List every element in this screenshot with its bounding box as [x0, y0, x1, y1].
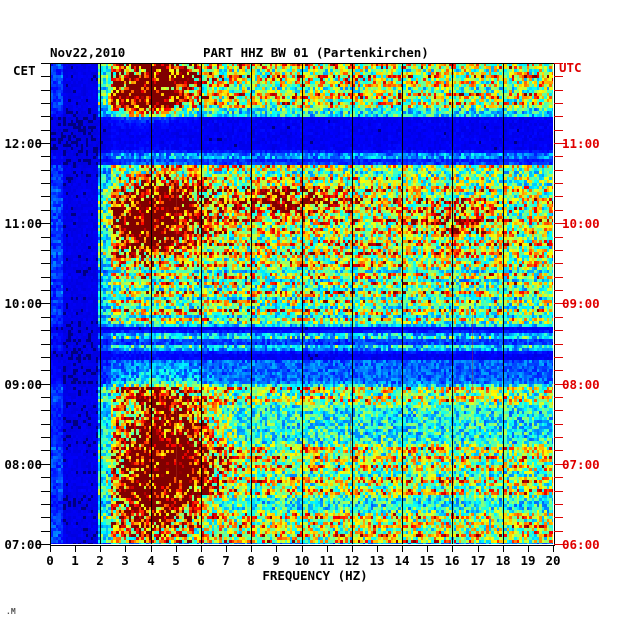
- left-tick-minor: [41, 450, 50, 451]
- right-tick-minor: [554, 76, 563, 77]
- left-tick-minor: [41, 410, 50, 411]
- left-tick-minor: [41, 103, 50, 104]
- x-tick: [125, 545, 126, 552]
- right-tick-minor: [554, 437, 563, 438]
- right-tick-label: 07:00: [562, 457, 600, 472]
- right-tick-minor: [554, 370, 563, 371]
- x-tick: [50, 545, 51, 552]
- x-axis-title: FREQUENCY (HZ): [0, 568, 630, 583]
- left-tick-minor: [41, 370, 50, 371]
- right-tick-minor: [554, 531, 563, 532]
- right-tick-minor: [554, 410, 563, 411]
- right-tick-label: 11:00: [562, 136, 600, 151]
- right-tick-label: 09:00: [562, 296, 600, 311]
- x-tick: [553, 545, 554, 552]
- right-tick-minor: [554, 344, 563, 345]
- right-tick-label: 06:00: [562, 537, 600, 552]
- left-tick-label: 12:00: [0, 136, 42, 151]
- left-tick-minor: [41, 317, 50, 318]
- left-tick-minor: [41, 424, 50, 425]
- right-tick-minor: [554, 290, 563, 291]
- x-tick: [251, 545, 252, 552]
- left-tick-minor: [41, 90, 50, 91]
- right-tick-minor: [554, 317, 563, 318]
- left-tick-minor: [41, 183, 50, 184]
- left-tick-minor: [41, 196, 50, 197]
- left-tick-minor: [41, 210, 50, 211]
- x-tick: [302, 545, 303, 552]
- x-tick: [100, 545, 101, 552]
- right-tick-minor: [554, 357, 563, 358]
- left-tick-minor: [41, 277, 50, 278]
- left-tick-minor: [41, 344, 50, 345]
- right-tick-minor: [554, 116, 563, 117]
- left-tick-minor: [41, 76, 50, 77]
- left-tick-minor: [41, 504, 50, 505]
- date-title: Nov22,2010: [50, 45, 125, 60]
- corner-mark: .M: [6, 607, 16, 616]
- right-tick-minor: [554, 183, 563, 184]
- left-tick-minor: [41, 330, 50, 331]
- right-tick-label: 08:00: [562, 377, 600, 392]
- right-tick-minor: [554, 90, 563, 91]
- left-tick-minor: [41, 130, 50, 131]
- left-tick-label: 11:00: [0, 216, 42, 231]
- x-tick: [176, 545, 177, 552]
- x-tick: [226, 545, 227, 552]
- left-tick-minor: [41, 477, 50, 478]
- right-tick-minor: [554, 277, 563, 278]
- x-tick: [478, 545, 479, 552]
- x-tick: [151, 545, 152, 552]
- right-tick-label: 10:00: [562, 216, 600, 231]
- right-tick-minor: [554, 477, 563, 478]
- right-tick-minor: [554, 130, 563, 131]
- right-tick-minor: [554, 330, 563, 331]
- right-tick-minor: [554, 156, 563, 157]
- left-tick-label: 08:00: [0, 457, 42, 472]
- x-tick: [201, 545, 202, 552]
- right-tick-minor: [554, 517, 563, 518]
- left-tick-minor: [41, 397, 50, 398]
- x-tick: [402, 545, 403, 552]
- left-tick-label: 09:00: [0, 377, 42, 392]
- right-tick-minor: [554, 424, 563, 425]
- right-tick-minor: [554, 170, 563, 171]
- right-tick-minor: [554, 210, 563, 211]
- x-tick-label: 20: [538, 553, 568, 568]
- left-tick-minor: [41, 116, 50, 117]
- left-tick-label: 10:00: [0, 296, 42, 311]
- right-tick-minor: [554, 196, 563, 197]
- spectrogram-page: Nov22,2010 PART HHZ BW 01 (Partenkirchen…: [0, 0, 630, 624]
- x-tick: [528, 545, 529, 552]
- left-tick-minor: [41, 63, 50, 64]
- right-tick-minor: [554, 504, 563, 505]
- left-tick-minor: [41, 237, 50, 238]
- x-tick: [452, 545, 453, 552]
- left-tick-minor: [41, 357, 50, 358]
- right-tick-minor: [554, 63, 563, 64]
- left-tick-minor: [41, 170, 50, 171]
- left-axis-label: CET: [13, 63, 36, 78]
- right-tick-minor: [554, 450, 563, 451]
- left-tick-minor: [41, 250, 50, 251]
- right-tick-minor: [554, 491, 563, 492]
- x-tick: [503, 545, 504, 552]
- x-tick: [377, 545, 378, 552]
- spectrogram-plot: [50, 63, 553, 544]
- left-tick-minor: [41, 263, 50, 264]
- x-tick: [427, 545, 428, 552]
- x-tick: [352, 545, 353, 552]
- right-tick-minor: [554, 237, 563, 238]
- left-tick-minor: [41, 156, 50, 157]
- right-tick-minor: [554, 397, 563, 398]
- station-title: PART HHZ BW 01 (Partenkirchen): [203, 45, 429, 60]
- right-tick-minor: [554, 263, 563, 264]
- left-tick-minor: [41, 517, 50, 518]
- x-tick: [276, 545, 277, 552]
- gridlines: [50, 63, 553, 544]
- x-tick: [75, 545, 76, 552]
- left-tick-minor: [41, 531, 50, 532]
- left-tick-label: 07:00: [0, 537, 42, 552]
- x-tick: [327, 545, 328, 552]
- right-tick-minor: [554, 250, 563, 251]
- left-tick-minor: [41, 491, 50, 492]
- left-tick-minor: [41, 437, 50, 438]
- right-tick-minor: [554, 103, 563, 104]
- left-tick-minor: [41, 290, 50, 291]
